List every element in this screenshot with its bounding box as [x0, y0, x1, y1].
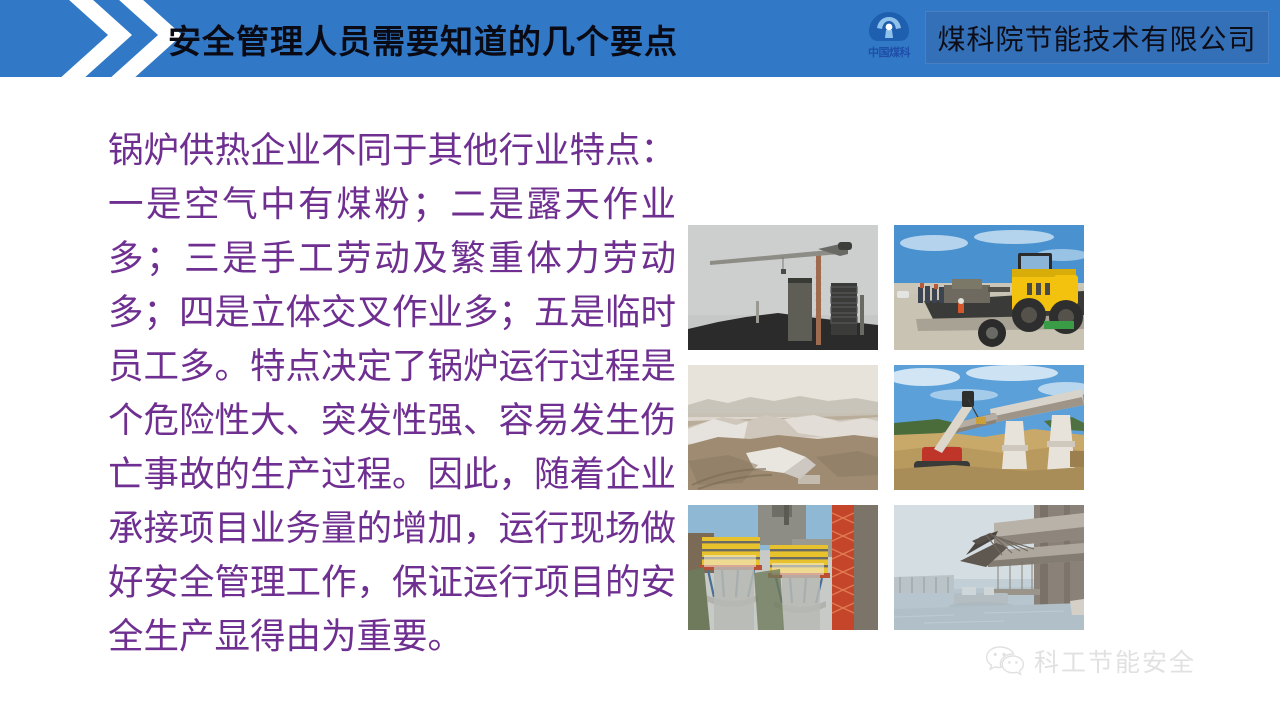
photo-road-paving	[894, 225, 1084, 350]
company-name: 煤科院节能技术有限公司	[937, 18, 1256, 58]
china-coal-emblem-icon	[866, 10, 912, 44]
china-coal-logo-caption: 中国煤科	[858, 44, 920, 60]
page-title: 安全管理人员需要知道的几个要点	[168, 15, 678, 63]
photo-tower-crane	[688, 225, 878, 350]
photo-bridge-girder-erection	[894, 365, 1084, 490]
header-bar: 安全管理人员需要知道的几个要点 中国煤科 煤科院节能技术有限公司	[0, 0, 1280, 77]
company-name-box: 煤科院节能技术有限公司	[925, 11, 1269, 64]
wechat-icon	[985, 644, 1025, 678]
photo-earthworks-roadbed	[688, 365, 878, 490]
watermark: 科工节能安全	[985, 643, 1196, 679]
watermark-text: 科工节能安全	[1034, 643, 1196, 679]
body-paragraph: 锅炉供热企业不同于其他行业特点：一是空气中有煤粉；二是露天作业多；三是手工劳动及…	[108, 124, 676, 664]
slide-root: 安全管理人员需要知道的几个要点 中国煤科 煤科院节能技术有限公司 锅炉供热企业不…	[0, 0, 1280, 720]
photo-grid	[688, 225, 1084, 629]
photo-pier-formwork	[688, 505, 878, 630]
photo-bridge-cantilever	[894, 505, 1084, 630]
china-coal-logo: 中国煤科	[858, 8, 920, 68]
